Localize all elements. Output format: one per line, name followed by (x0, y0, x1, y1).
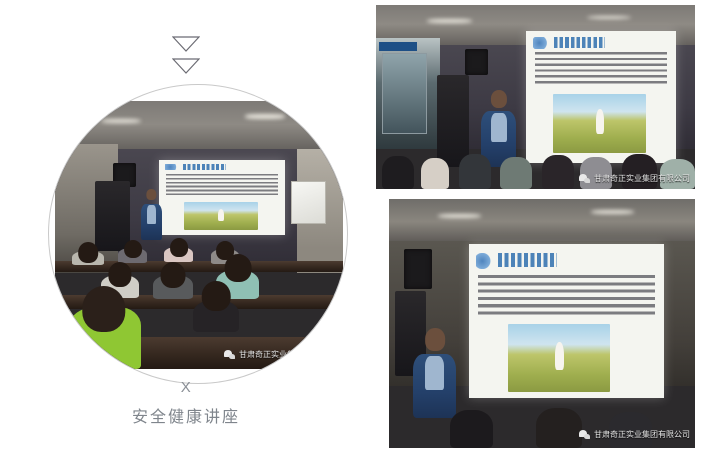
lecture-hall-scene-rear-view: 甘肃奇正实业集团有限公司 (55, 101, 343, 369)
audience-member (421, 158, 450, 189)
slide-header-text (498, 253, 557, 267)
audience-member (542, 155, 574, 189)
projection-screen (469, 244, 665, 398)
photo-top: 甘肃奇正实业集团有限公司 (376, 5, 695, 189)
photo-collage-page: 甘肃奇正实业集团有限公司 X 安全健康讲座 (0, 0, 723, 459)
audience-member (450, 410, 493, 448)
audience-head (161, 262, 186, 288)
chevron-decoration-group (0, 36, 372, 74)
wechat-icon (579, 430, 590, 439)
slide-photo (553, 94, 646, 152)
lecture-room-scene-presenter: 甘肃奇正实业集团有限公司 (376, 5, 695, 189)
audience-head (82, 286, 125, 332)
slide-header-text (554, 37, 605, 48)
whiteboard (291, 181, 326, 224)
presenter (141, 189, 161, 240)
caption-block: X 安全健康讲座 (0, 378, 372, 428)
projection-screen (526, 31, 676, 163)
audience-member (500, 157, 532, 189)
audience-head (108, 262, 131, 286)
audience-member (72, 251, 104, 266)
caption-marker: X (0, 378, 372, 398)
slide-logo-icon (165, 164, 180, 171)
audience-member-foreground (67, 307, 142, 369)
chevron-down-icon (172, 36, 200, 52)
window-frame (382, 53, 427, 134)
ceiling-speaker (465, 49, 487, 75)
slide-body-text (535, 52, 667, 86)
watermark-text: 甘肃奇正实业集团有限公司 (239, 351, 335, 359)
ceiling-speaker (404, 249, 432, 289)
audience-head (202, 281, 231, 311)
slide-photo (508, 324, 610, 392)
audience-member (153, 275, 193, 298)
circular-photo: 甘肃奇正实业集团有限公司 (55, 101, 343, 369)
blue-sign (379, 42, 417, 51)
audience-head (78, 242, 98, 263)
audience-member (382, 156, 414, 189)
circular-photo-frame: 甘肃奇正实业集团有限公司 (48, 84, 348, 384)
photo-bottom: 甘肃奇正实业集团有限公司 (389, 199, 695, 448)
slide-header-text (183, 164, 226, 170)
presenter-head (425, 328, 445, 350)
audience-area (389, 403, 695, 448)
photo-watermark: 甘肃奇正实业集团有限公司 (579, 430, 690, 439)
watermark-text: 甘肃奇正实业集团有限公司 (594, 175, 690, 183)
slide-logo-icon (476, 253, 494, 268)
audience-member (164, 247, 193, 262)
watermark-text: 甘肃奇正实业集团有限公司 (594, 431, 690, 439)
audience-member (536, 408, 582, 448)
audience-head (170, 238, 188, 257)
chevron-down-icon (172, 58, 200, 74)
left-panel: 甘肃奇正实业集团有限公司 X 安全健康讲座 (0, 0, 372, 459)
page-title: 安全健康讲座 (0, 406, 372, 428)
audience-member (193, 300, 239, 332)
slide-body-text (478, 275, 654, 318)
audience-member (459, 154, 491, 189)
photo-watermark: 甘肃奇正实业集团有限公司 (579, 174, 690, 183)
audience-head (124, 240, 142, 259)
wechat-icon (224, 350, 235, 359)
presenter-head (491, 90, 507, 108)
audience-member (118, 248, 147, 263)
projection-screen (159, 160, 286, 235)
wechat-icon (579, 174, 590, 183)
audience-head (224, 254, 251, 282)
audience-member (622, 154, 657, 189)
lecture-room-scene-wide: 甘肃奇正实业集团有限公司 (389, 199, 695, 448)
equipment-rack (95, 181, 130, 251)
presenter-body (141, 204, 161, 241)
presenter-head (147, 189, 156, 199)
slide-body-text (166, 174, 278, 197)
photo-watermark: 甘肃奇正实业集团有限公司 (224, 350, 335, 359)
slide-photo (184, 202, 257, 231)
slide-logo-icon (533, 37, 551, 49)
